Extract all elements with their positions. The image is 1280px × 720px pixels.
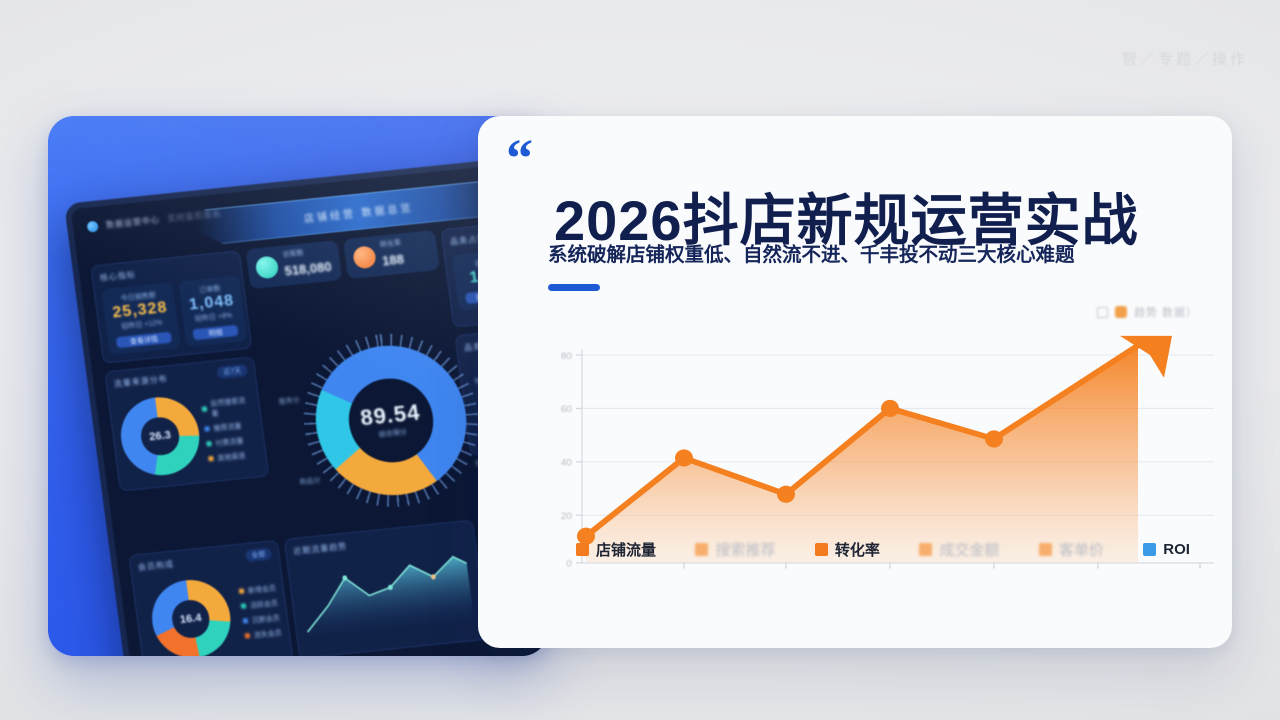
legend-item-search[interactable]: 搜索推荐 [695,539,775,560]
chart-badge[interactable]: 趋势 数据） [1097,304,1198,320]
y-tick-label: 20 [561,511,573,522]
laptop-mockup: 数据运营中心 实时监控面板 店铺经营 数据总览 核心指标 今日销售额 25,32… [64,145,548,656]
legend-swatch-icon [1039,543,1052,556]
member-donut-chart: 16.4 [147,576,235,656]
metric-chip[interactable]: 访客数 518,080 [245,240,342,289]
trend-area-chart [295,543,478,638]
traffic-donut-chart: 26.3 [116,394,204,479]
gauge-label: 服务分 [278,395,300,407]
accent-divider [548,284,600,291]
dashboard-brand: 数据运营中心 [105,214,160,230]
member-panel: 会员构成 全部 16.4 新增会员 活跃会员 沉默会员 流失会员 [128,540,293,656]
legend-item-gmv[interactable]: 成交金额 [919,539,999,560]
gauge-value-group: 89.54 综合得分 [307,338,476,502]
gauge-label: 商品分 [299,475,321,487]
y-tick-label: 0 [566,559,572,570]
donut-center-value: 26.3 [116,394,204,479]
legend-swatch-icon [919,543,932,556]
legend-item: 沉默会员 [242,612,280,626]
y-tick-label: 60 [561,404,573,415]
series-dot-icon [1115,306,1127,318]
trend-area-panel: 近期流量趋势 [284,520,489,656]
watermark-text: 智／专题／操作 [1122,48,1248,69]
legend-swatch-icon [576,543,589,556]
quote-icon: “ [506,140,533,178]
legend-label: 搜索推荐 [715,539,775,560]
kpi-panel: 核心指标 今日销售额 25,328 较昨日 +12% 查看详情 订单数 1,04… [90,250,252,364]
brand-logo-icon [86,220,98,232]
metric-chip[interactable]: 转化率 188 [343,230,440,279]
chip-label: 转化率 [380,240,402,249]
calendar-icon [1097,307,1108,318]
donut-legend: 新增会员 活跃会员 沉默会员 流失会员 [238,583,282,641]
gauge-sub: 综合得分 [378,427,407,440]
legend-item-aov[interactable]: 客单价 [1039,539,1104,560]
traffic-source-pill[interactable]: 近7天 [217,364,248,379]
legend-label: 店铺流量 [596,539,656,560]
kpi-button[interactable]: 查看详情 [116,332,172,349]
chip-text: 访客数 518,080 [282,246,333,281]
page-subtitle: 系统破解店铺权重低、自然流不进、千丰投不动三大核心难题 [548,238,1228,267]
kpi-card[interactable]: 订单数 1,048 较昨日 +8% 明细 [178,275,247,347]
kpi-button[interactable]: 明细 [192,325,238,341]
chip-text: 转化率 188 [379,239,405,271]
legend-label: 客单价 [1059,539,1104,560]
donut-legend: 自然搜索流量 推荐流量 付费流量 其他渠道 [201,394,259,464]
chart-legend: 店铺流量 搜索推荐 转化率 成交金额 客单价 [576,539,1190,560]
legend-label: 转化率 [835,539,880,560]
legend-swatch-icon [815,543,828,556]
legend-item: 其他渠道 [208,449,259,464]
dashboard-screen: 数据运营中心 实时监控面板 店铺经营 数据总览 核心指标 今日销售额 25,32… [71,152,548,656]
conversion-icon [352,245,377,269]
gauge-value: 89.54 [359,399,422,431]
page-background: 智／专题／操作 数据运营中心 实时监控面板 店铺经营 数据总览 核心指标 [0,0,1280,720]
legend-item: 自然搜索流量 [201,394,253,419]
legend-item: 活跃会员 [240,598,278,612]
legend-swatch-icon [695,543,708,556]
kpi-card[interactable]: 今日销售额 25,328 较昨日 +12% 查看详情 [101,282,180,355]
donut-center-value: 16.4 [147,576,235,656]
legend-item-conversion[interactable]: 转化率 [815,539,880,560]
visitors-icon [255,255,280,279]
hud-title: 店铺经营 数据总览 [303,199,414,225]
legend-item: 推荐流量 [204,419,255,434]
traffic-source-panel: 流量来源分布 近7天 26.3 自然搜索流量 推荐流量 付费流量 其他渠道 [104,356,269,491]
chart-badge-label: 趋势 数据） [1134,304,1198,320]
main-chart: 趋势 数据） [524,312,1214,582]
chip-label: 访客数 [282,250,304,259]
score-gauge: 89.54 综合得分 服务分 物流分 商品分 体验分 [307,338,476,502]
legend-label: 成交金额 [939,539,999,560]
legend-item: 新增会员 [238,583,276,597]
legend-item-traffic[interactable]: 店铺流量 [576,539,656,560]
chip-value: 188 [381,249,405,271]
y-tick-label: 40 [561,458,573,469]
member-pill[interactable]: 全部 [245,547,272,562]
legend-swatch-icon [1143,543,1156,556]
legend-label: ROI [1163,541,1190,558]
legend-item: 付费流量 [206,434,257,449]
hero-content-card: “ 2026抖店新规运营实战 系统破解店铺权重低、自然流不进、千丰投不动三大核心… [478,116,1232,648]
legend-item-roi[interactable]: ROI [1143,541,1190,558]
legend-item: 流失会员 [244,627,282,641]
device-showcase-card: 数据运营中心 实时监控面板 店铺经营 数据总览 核心指标 今日销售额 25,32… [48,116,548,656]
y-tick-label: 80 [561,351,573,362]
chart-area-fill [586,345,1138,562]
trend-area-svg [295,543,478,638]
chip-value: 518,080 [283,256,332,280]
